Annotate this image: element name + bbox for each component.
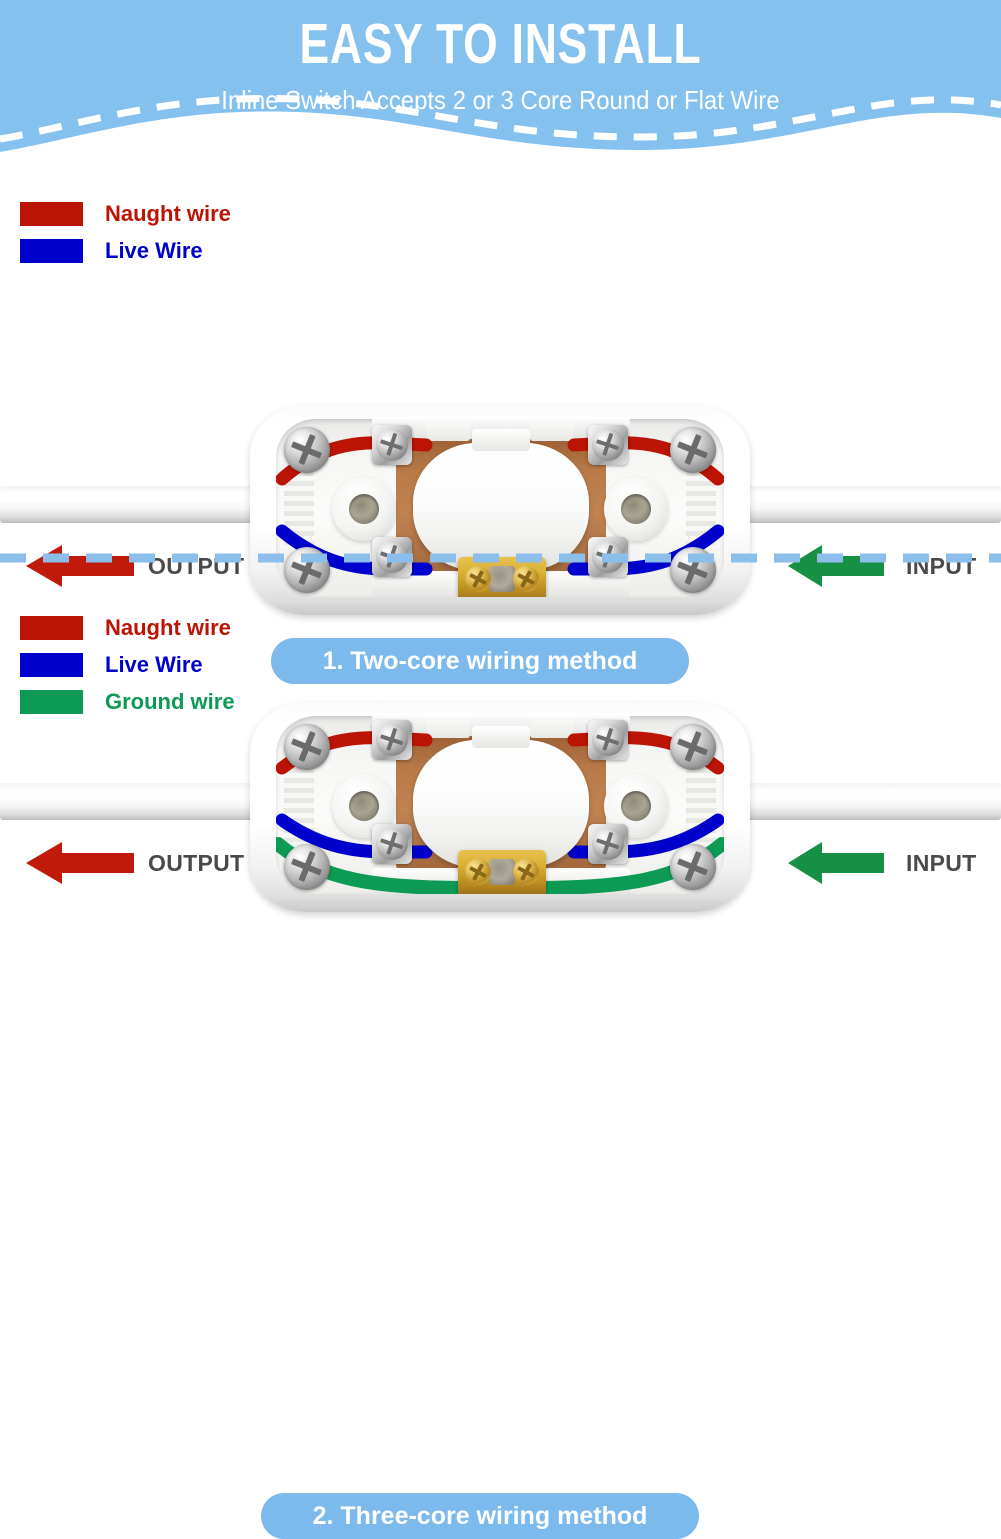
terminal-screw-top-right[interactable] [588, 425, 628, 465]
legend-three-core: Naught wire Live Wire Ground wire [20, 609, 235, 720]
grommet-left [332, 477, 396, 541]
corner-screw-top-right[interactable] [670, 724, 716, 770]
terminal-screw-top-left[interactable] [372, 720, 412, 760]
corner-screw-top-left[interactable] [284, 724, 330, 770]
rocker-nub-top [472, 429, 530, 451]
corner-screw-top-right[interactable] [670, 427, 716, 473]
corner-screw-top-left[interactable] [284, 427, 330, 473]
cable-left [0, 486, 272, 523]
arrow-left-green-icon [788, 840, 884, 886]
cable-right [729, 783, 1001, 820]
legend-item: Naught wire [20, 609, 235, 646]
terminal-screw-top-right[interactable] [588, 720, 628, 760]
legend-item: Naught wire [20, 195, 231, 232]
corner-screw-bottom-right[interactable] [670, 844, 716, 890]
output-label: OUTPUT [148, 850, 244, 877]
earth-terminal-block[interactable] [458, 850, 546, 894]
legend-label-ground: Ground wire [105, 689, 235, 715]
legend-swatch-ground [20, 690, 83, 714]
earth-terminal-screw-left[interactable] [465, 859, 491, 885]
legend-item: Live Wire [20, 232, 231, 269]
cable-left [0, 783, 272, 820]
legend-item: Live Wire [20, 646, 235, 683]
legend-swatch-naught [20, 202, 83, 226]
section-two-core: Naught wire Live Wire [0, 168, 1001, 558]
earth-terminal-screw-right[interactable] [513, 859, 539, 885]
cable-right [729, 486, 1001, 523]
legend-swatch-live [20, 239, 83, 263]
page-subtitle: Inline Switch Accepts 2 or 3 Core Round … [40, 84, 961, 116]
rocker-switch[interactable] [413, 740, 589, 868]
arrow-left-red-icon [26, 840, 134, 886]
grommet-right [604, 477, 668, 541]
terminal-screw-top-left[interactable] [372, 425, 412, 465]
rocker-nub-top [472, 726, 530, 748]
legend-swatch-naught [20, 616, 83, 640]
section-divider [0, 552, 1001, 564]
caption-three-core: 2. Three-core wiring method [261, 1493, 699, 1539]
legend-label-naught: Naught wire [105, 615, 231, 641]
earth-terminal-hole [489, 859, 515, 885]
terminal-screw-bottom-left[interactable] [372, 824, 412, 864]
page-title: EASY TO INSTALL [110, 14, 891, 74]
output-indicator-three-core: OUTPUT [26, 840, 244, 886]
header-banner: EASY TO INSTALL Inline Switch Accepts 2 … [0, 0, 1001, 168]
legend-item: Ground wire [20, 683, 235, 720]
legend-label-live: Live Wire [105, 238, 203, 264]
legend-label-live: Live Wire [105, 652, 203, 678]
device-cavity [276, 716, 724, 894]
input-label: INPUT [906, 850, 977, 877]
terminal-screw-bottom-right[interactable] [588, 824, 628, 864]
input-indicator-three-core: INPUT [788, 840, 977, 886]
legend-label-naught: Naught wire [105, 201, 231, 227]
legend-swatch-live [20, 653, 83, 677]
corner-screw-bottom-left[interactable] [284, 844, 330, 890]
device-cavity [276, 419, 724, 597]
section-three-core: Naught wire Live Wire Ground wire [0, 575, 1001, 970]
inline-switch-device-three-core [250, 702, 750, 912]
legend-two-core: Naught wire Live Wire [20, 195, 231, 269]
